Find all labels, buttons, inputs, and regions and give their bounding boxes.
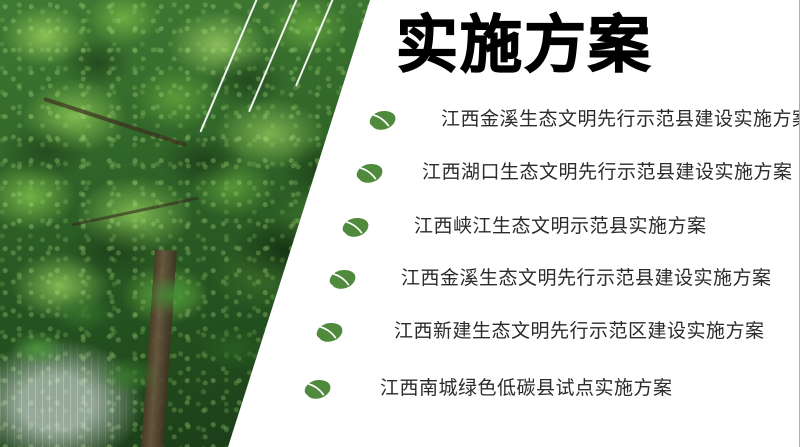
list-item-label: 江西金溪生态文明先行示范县建设实施方案 xyxy=(401,269,772,290)
leaf-icon xyxy=(368,108,397,133)
list-item-label: 江西金溪生态文明先行示范县建设实施方案 xyxy=(441,110,800,131)
list-item[interactable]: 江西湖口生态文明先行示范县建设实施方案 xyxy=(355,161,793,186)
leaf-icon xyxy=(328,267,357,292)
list-item-label: 江西南城绿色低碳县试点实施方案 xyxy=(380,379,673,400)
list-item[interactable]: 江西金溪生态文明先行示范县建设实施方案 xyxy=(368,108,800,133)
list-item[interactable]: 江西新建生态文明先行示范区建设实施方案 xyxy=(315,320,765,345)
list-item[interactable]: 江西金溪生态文明先行示范县建设实施方案 xyxy=(328,267,772,292)
slide-canvas: 实施方案 江西金溪生态文明先行示范县建设实施方案 江西湖口生态文明先行示范县建设… xyxy=(0,0,800,447)
list-item-label: 江西湖口生态文明先行示范县建设实施方案 xyxy=(422,163,793,184)
list-item[interactable]: 江西峡江生态文明示范县实施方案 xyxy=(341,215,707,240)
list-item-label: 江西峡江生态文明示范县实施方案 xyxy=(414,217,707,238)
leaf-icon xyxy=(355,161,384,186)
leaf-icon xyxy=(341,215,370,240)
page-title: 实施方案 xyxy=(396,14,652,76)
leaf-icon xyxy=(315,320,344,345)
leaf-icon xyxy=(303,377,332,402)
list-item-label: 江西新建生态文明先行示范区建设实施方案 xyxy=(394,322,765,343)
list-item[interactable]: 江西南城绿色低碳县试点实施方案 xyxy=(303,377,673,402)
